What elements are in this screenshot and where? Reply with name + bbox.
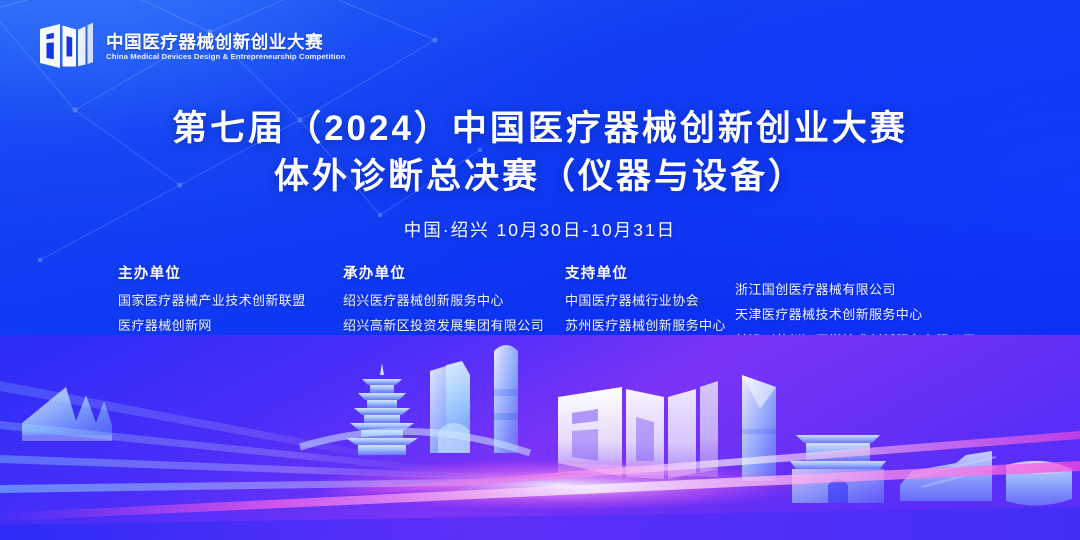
brand-lockup: 中国医疗器械创新创业大赛 China Medical Devices Desig… [38, 20, 341, 72]
organizer-item: 浙江国创医疗器械有限公司 [735, 282, 976, 298]
glass-tower-icon [742, 375, 776, 481]
event-title-line1: 第七届（2024）中国医疗器械创新创业大赛 [0, 108, 1080, 151]
organizer-item: 医疗器械创新网 [118, 318, 306, 334]
column-heading: 主办单位 [118, 262, 306, 283]
organizer-item: 国家医疗器械产业技术创新联盟 [118, 293, 306, 309]
column-heading: 支持单位 [565, 262, 726, 283]
organizer-column-supporter: 支持单位 中国医疗器械行业协会 苏州医疗器械创新服务中心 [565, 262, 726, 344]
column-heading: 承办单位 [343, 262, 544, 283]
event-location-date: 中国·绍兴 10月30日-10月31日 [0, 217, 1080, 242]
organizer-item: 绍兴医疗器械创新服务中心 [343, 293, 544, 309]
event-title-line2: 体外诊断总决赛（仪器与设备） [0, 156, 1080, 199]
organizer-item: 绍兴高新区投资发展集团有限公司 [343, 318, 544, 334]
hero-title-block: 第七届（2024）中国医疗器械创新创业大赛 体外诊断总决赛（仪器与设备） 中国·… [0, 108, 1080, 242]
brand-name-en: China Medical Devices Design & Entrepren… [106, 53, 345, 61]
brand-name-cn: 中国医疗器械创新创业大赛 [106, 34, 341, 52]
organizer-column-coorganizer: 承办单位 绍兴医疗器械创新服务中心 绍兴高新区投资发展集团有限公司 [343, 262, 544, 344]
organizer-item: 苏州医疗器械创新服务中心 [565, 318, 726, 334]
event-poster: 中国医疗器械创新创业大赛 China Medical Devices Desig… [0, 0, 1080, 540]
organizer-item: 天津医疗器械技术创新服务中心 [735, 307, 976, 323]
competition-logo-icon [38, 20, 94, 72]
cityscape-scene [0, 335, 1080, 540]
organizer-column-host: 主办单位 国家医疗器械产业技术创新联盟 医疗器械创新网 [118, 262, 306, 344]
tower-icon [494, 345, 518, 453]
organizer-item: 中国医疗器械行业协会 [565, 293, 726, 309]
